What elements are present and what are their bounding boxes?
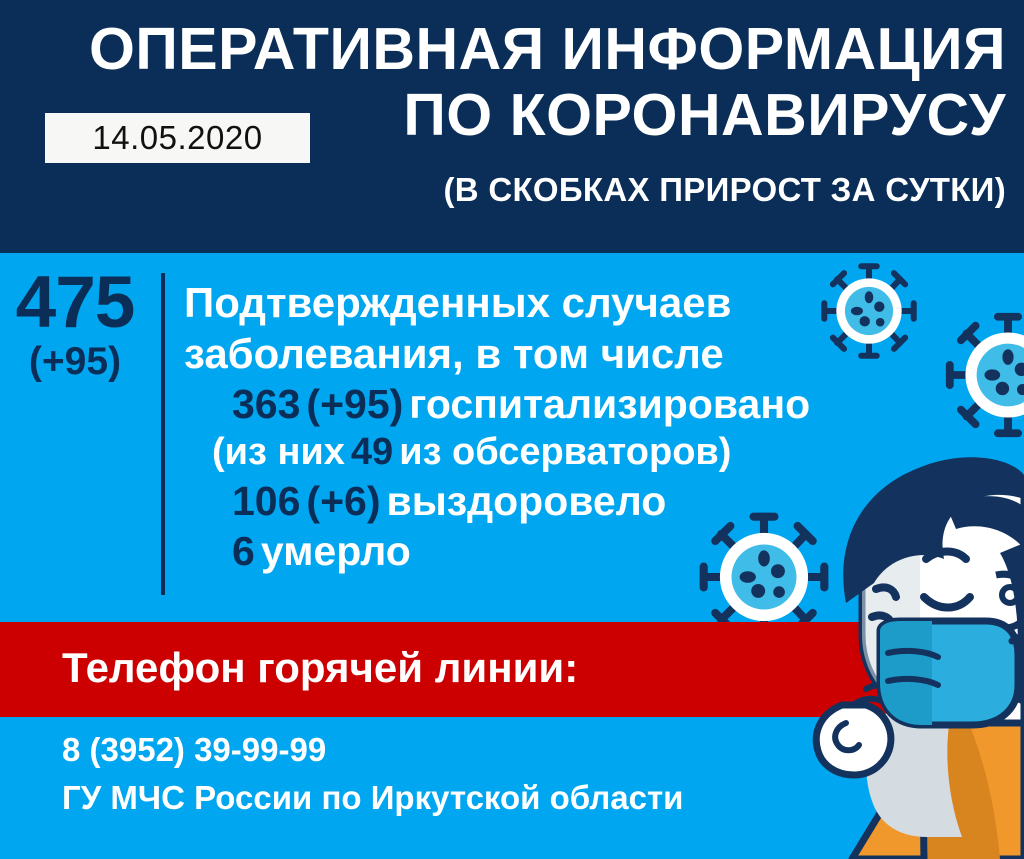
total-cases-delta: (+95) [0,340,150,384]
hospitalized-delta: (+95) [306,381,403,427]
hotline-bar: Телефон горячей линии: [0,622,1024,717]
observators-suffix: из обсерваторов) [399,431,731,473]
vertical-divider [161,273,165,595]
recovered-number: 106 [232,478,300,524]
stat-died: 6умерло [184,526,884,576]
statistics-list: Подтвержденных случаев заболевания, в то… [184,277,884,576]
header-subtitle: (В СКОБКАХ ПРИРОСТ ЗА СУТКИ) [16,170,1006,210]
hospitalized-label: госпитализировано [409,381,810,427]
died-number: 6 [232,528,255,574]
recovered-delta: (+6) [306,478,380,524]
contacts-block: 8 (3952) 39-99-99 ГУ МЧС России по Иркут… [62,728,683,820]
hotline-phone[interactable]: 8 (3952) 39-99-99 [62,728,683,772]
summary-label-line-2: заболевания, в том числе [184,328,884,379]
stat-hospitalized: 363(+95)госпитализировано [184,379,884,429]
date-badge: 14.05.2020 [45,113,310,163]
hospitalized-number: 363 [232,381,300,427]
died-label: умерло [261,528,411,574]
observators-prefix: (из них [212,431,345,473]
title-line-1: ОПЕРАТИВНАЯ ИНФОРМАЦИЯ [16,16,1006,82]
hotline-title: Телефон горячей линии: [62,639,578,697]
total-cases-number: 475 [0,268,150,338]
summary-label-line-1: Подтвержденных случаев [184,277,884,328]
stat-observators: (из них49из обсерваторов) [184,429,884,476]
infographic-poster: ОПЕРАТИВНАЯ ИНФОРМАЦИЯ ПО КОРОНАВИРУСУ (… [0,0,1024,859]
hotline-organization: ГУ МЧС России по Иркутской области [62,776,683,820]
observators-number: 49 [351,431,393,473]
stat-recovered: 106(+6)выздоровело [184,476,884,526]
header-banner: ОПЕРАТИВНАЯ ИНФОРМАЦИЯ ПО КОРОНАВИРУСУ (… [0,0,1024,253]
recovered-label: выздоровело [386,478,666,524]
total-cases-block: 475 (+95) [0,268,150,384]
